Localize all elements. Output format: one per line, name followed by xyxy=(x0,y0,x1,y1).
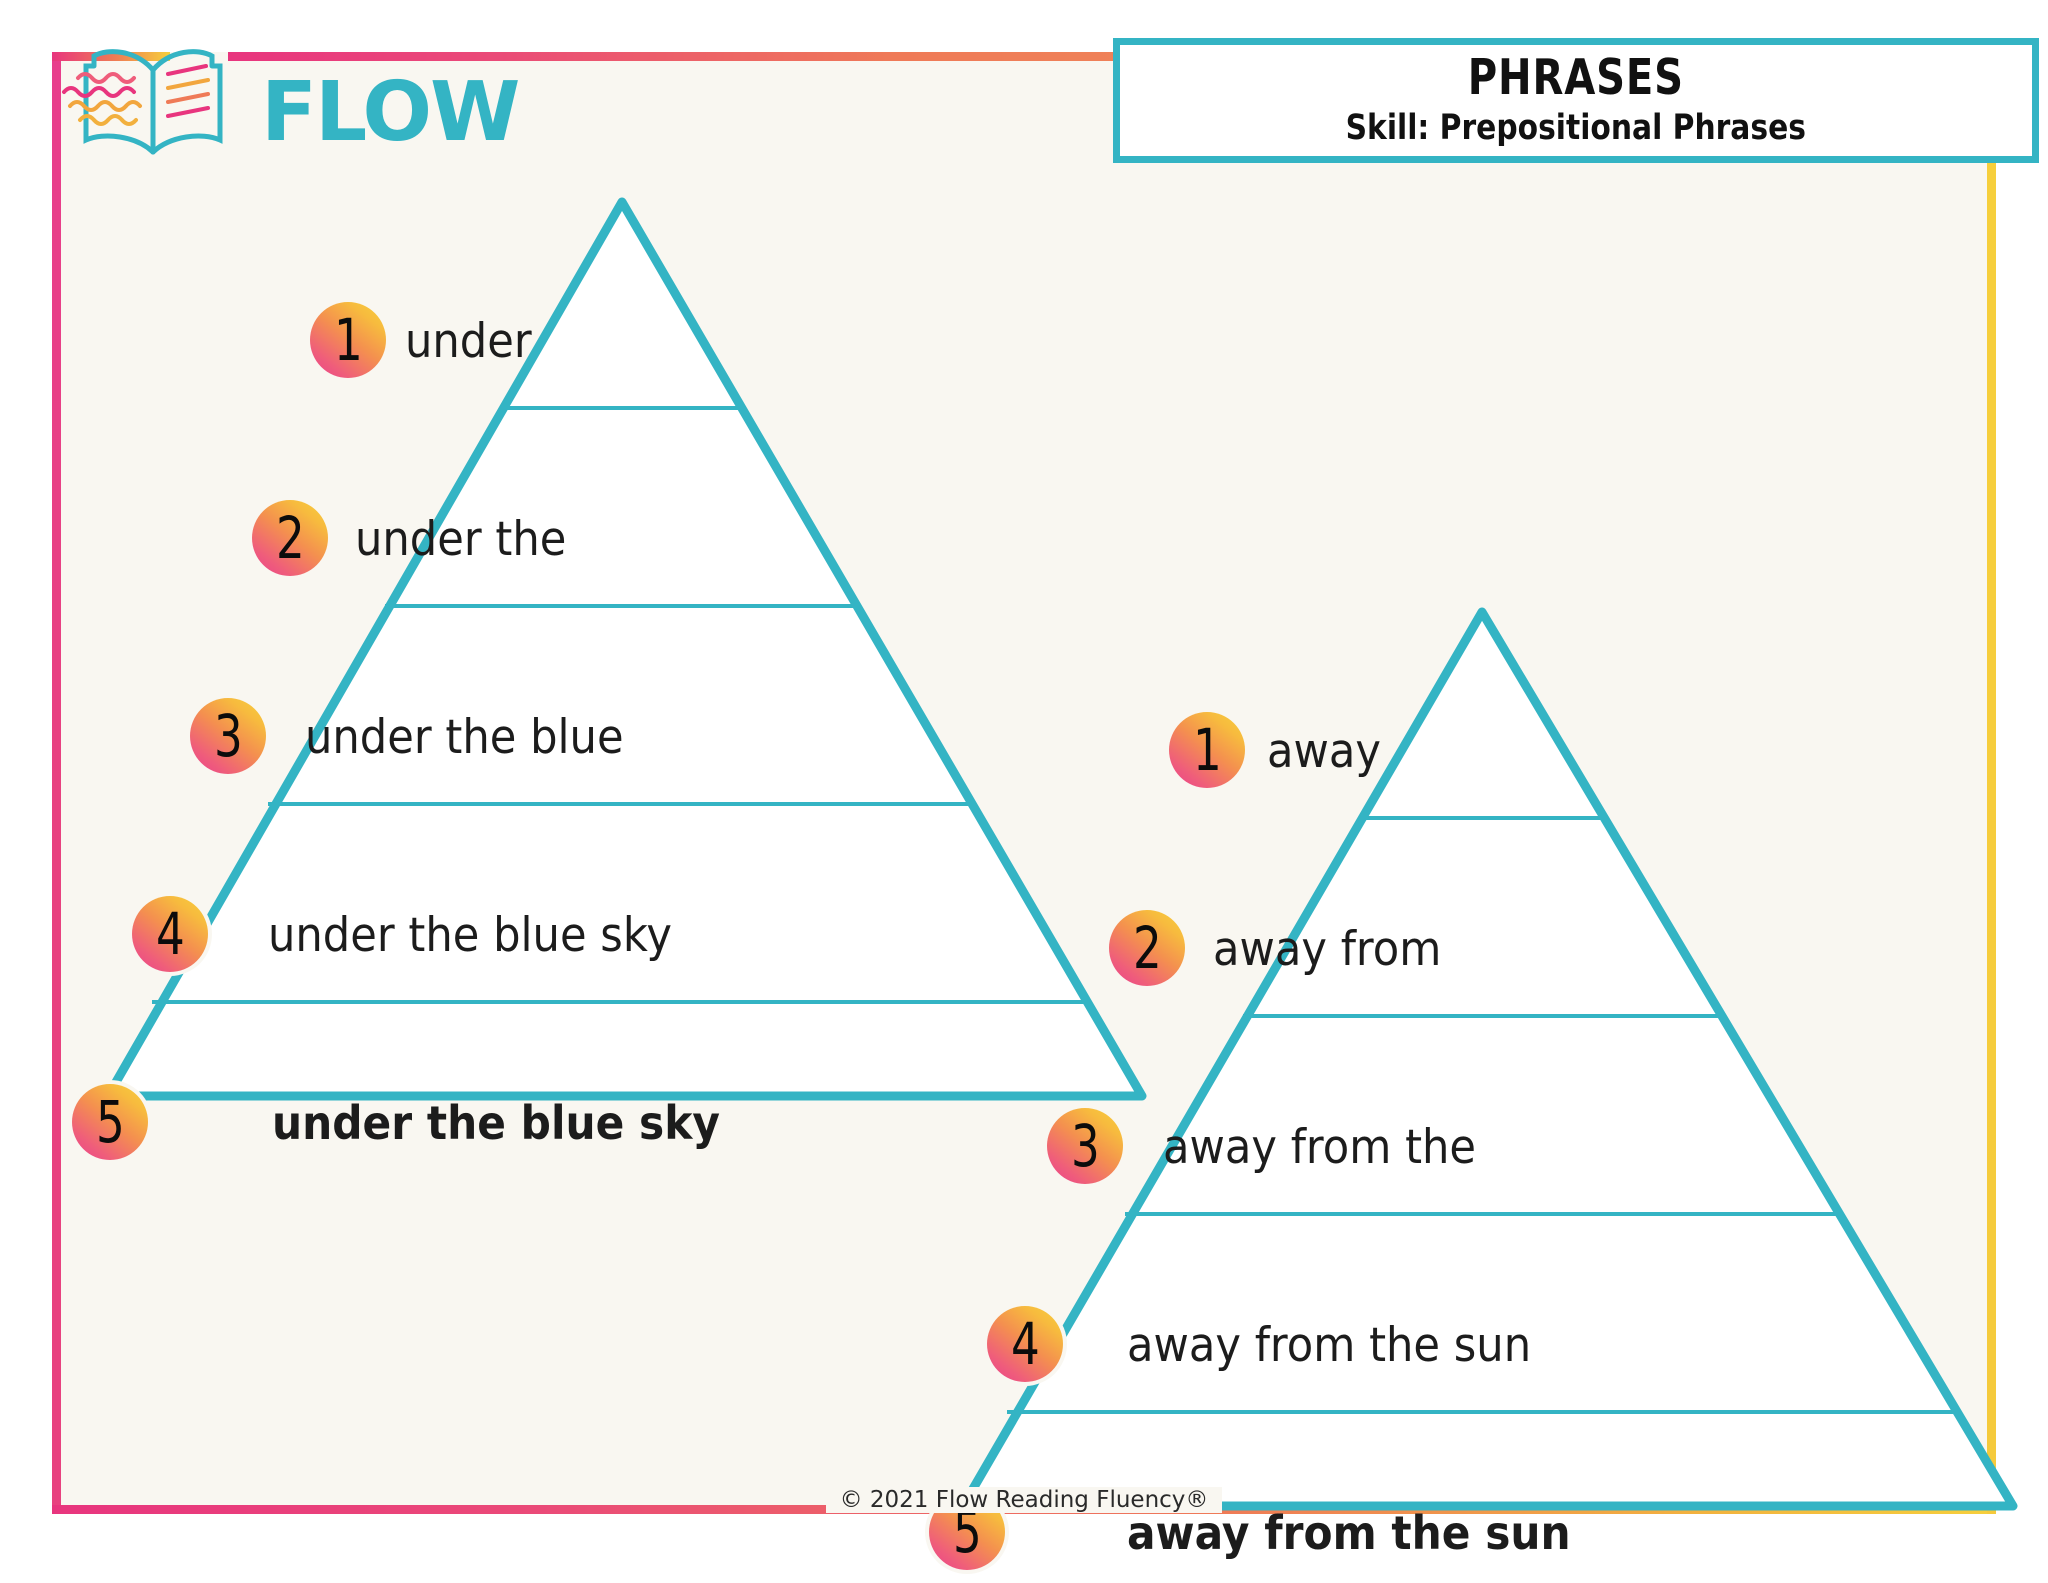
step-number: 2 xyxy=(1133,919,1162,977)
step-badge: 4 xyxy=(128,892,212,976)
skill-header-box: PHRASES Skill: Prepositional Phrases xyxy=(1113,38,2039,163)
step-badge: 5 xyxy=(68,1080,152,1164)
pyramid-row-text: away from the xyxy=(1163,1124,1476,1171)
step-badge: 2 xyxy=(1105,906,1189,990)
worksheet-page: FLOW PHRASES Skill: Prepositional Phrase… xyxy=(0,0,2048,1583)
pyramid-away-shape xyxy=(955,600,2030,1530)
step-badge: 1 xyxy=(1165,708,1249,792)
step-badge: 3 xyxy=(1043,1104,1127,1188)
brand-wordmark: FLOW xyxy=(261,72,519,154)
brand-logo: FLOW xyxy=(56,40,616,165)
step-number: 1 xyxy=(1193,721,1222,779)
step-number: 3 xyxy=(1071,1117,1100,1175)
copyright-text: © 2021 Flow Reading Fluency® xyxy=(826,1487,1223,1513)
step-badge: 4 xyxy=(983,1302,1067,1386)
pyramid-row-text: under the blue sky xyxy=(272,1100,720,1147)
page-title: PHRASES xyxy=(1468,52,1684,104)
pyramid-row-text: away from xyxy=(1213,926,1441,973)
step-number: 4 xyxy=(156,905,185,963)
pyramid-row-text: away xyxy=(1267,728,1381,775)
step-badge: 2 xyxy=(248,496,332,580)
step-number: 5 xyxy=(96,1093,125,1151)
pyramid-row-text: under the xyxy=(355,516,566,563)
step-badge: 3 xyxy=(186,694,270,778)
pyramid-row-text: away from the sun xyxy=(1127,1322,1531,1369)
step-badge: 1 xyxy=(306,298,390,382)
step-number: 4 xyxy=(1011,1315,1040,1373)
frame-border-left xyxy=(52,52,61,1514)
footer-copyright: © 2021 Flow Reading Fluency® xyxy=(0,1487,2048,1513)
skill-subtitle: Skill: Prepositional Phrases xyxy=(1346,106,1806,150)
step-number: 3 xyxy=(214,707,243,765)
open-book-icon xyxy=(56,40,251,160)
pyramid-away: 1 away 2 away from 3 away from the 4 awa… xyxy=(955,600,2030,1530)
pyramid-row-text: away from the sun xyxy=(1127,1510,1571,1557)
pyramid-row-text: under the blue xyxy=(305,714,624,761)
step-number: 1 xyxy=(334,311,363,369)
pyramid-row-text: under xyxy=(405,318,532,365)
step-number: 2 xyxy=(276,509,305,567)
pyramid-row-text: under the blue sky xyxy=(268,912,672,959)
